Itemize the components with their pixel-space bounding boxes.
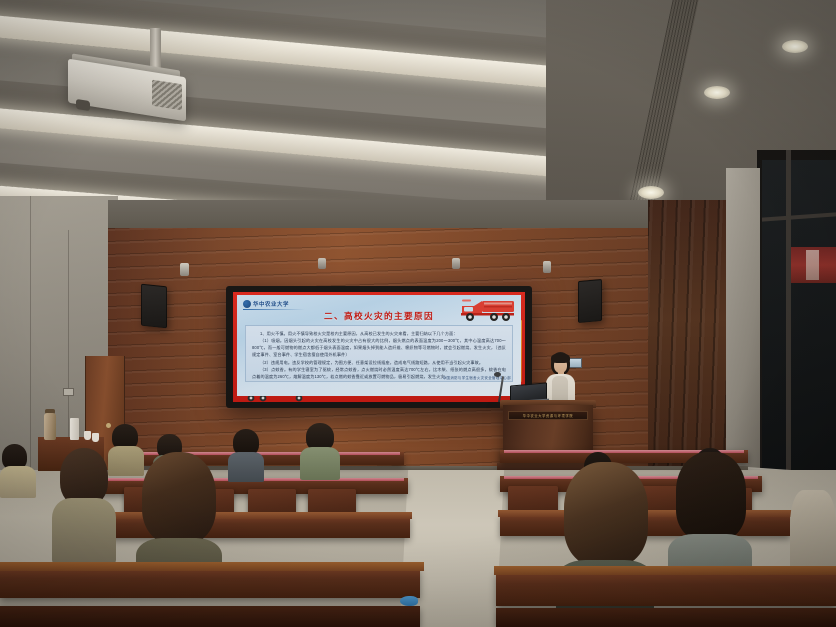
cup-2 bbox=[92, 433, 99, 442]
lecture-hall-photo: 华中农业大学 二、高校火灾的主要原因 bbox=[0, 0, 836, 627]
light-switch[interactable] bbox=[63, 388, 74, 396]
bench-top-front-left bbox=[0, 562, 424, 571]
attendee-8-foreground bbox=[52, 448, 116, 558]
slide-text-box: 1、用火不慎。用火不慎导致校火灾是校内主要原因，从高校已发生的火灾来看，主要归纳… bbox=[245, 325, 513, 382]
slide-paragraph-3: （2）违规用电。违反学校的管理规定，为图方便、任意架设拉线插座，造成电气线路短路… bbox=[252, 359, 506, 366]
bench-row-front-right[interactable] bbox=[496, 572, 836, 606]
blue-shoe-cover bbox=[400, 596, 418, 606]
window-glass bbox=[762, 160, 836, 470]
slide-paragraph-2: （1）吸烟。因烟头引起的火灾在高校发生的火灾中占有很大的比例，烟头燃点的表面温度… bbox=[252, 337, 506, 358]
slide-paragraph-1: 1、用火不慎。用火不慎导致校火灾是校内主要原因，从高校已发生的火灾来看，主要归纳… bbox=[252, 330, 506, 337]
bench-front-edge-left bbox=[0, 606, 420, 627]
outdoor-banner-2 bbox=[806, 250, 819, 280]
track-light-1 bbox=[180, 263, 189, 276]
downlight-1 bbox=[704, 86, 730, 99]
downlight-3 bbox=[782, 40, 808, 53]
university-logo: 华中农业大学 bbox=[243, 299, 305, 309]
paper-cup-stack bbox=[70, 418, 79, 440]
attendee-3 bbox=[228, 429, 264, 477]
attendee-4 bbox=[300, 423, 340, 475]
presenter-hair-front bbox=[551, 353, 570, 363]
presentation-slide: 华中农业大学 二、高校火灾的主要原因 bbox=[233, 292, 525, 402]
window-pillar bbox=[726, 168, 760, 488]
projector-lens bbox=[76, 99, 90, 111]
wall-speaker-right bbox=[578, 279, 602, 323]
bench-front-edge-right bbox=[496, 608, 836, 627]
led-display-screen[interactable]: 华中农业大学 二、高校火灾的主要原因 bbox=[226, 286, 532, 408]
track-light-2 bbox=[318, 258, 326, 269]
track-light-3 bbox=[452, 258, 460, 269]
track-light-4 bbox=[543, 261, 551, 273]
wall-seam-1 bbox=[30, 196, 31, 486]
attendee-5 bbox=[0, 444, 36, 492]
window-mullion-vertical bbox=[786, 150, 791, 480]
university-logo-mark bbox=[243, 300, 251, 308]
fire-truck-icon bbox=[460, 298, 516, 323]
university-logo-text: 华中农业大学 bbox=[253, 300, 289, 308]
cup-1 bbox=[84, 431, 91, 440]
podium-plaque: 华中农业大学资源与环境学院 bbox=[508, 411, 588, 420]
podium-plaque-text: 华中农业大学资源与环境学院 bbox=[523, 413, 574, 418]
wall-speaker-left bbox=[141, 284, 167, 329]
downlight-2 bbox=[638, 186, 664, 199]
slide-content-area: 华中农业大学 二、高校火灾的主要原因 bbox=[237, 295, 521, 396]
thermos bbox=[44, 413, 56, 440]
microphone-head bbox=[494, 372, 501, 377]
bench-row-front-left[interactable] bbox=[0, 568, 420, 598]
bench-top-front-right bbox=[494, 566, 836, 575]
projector-vent bbox=[152, 80, 182, 111]
